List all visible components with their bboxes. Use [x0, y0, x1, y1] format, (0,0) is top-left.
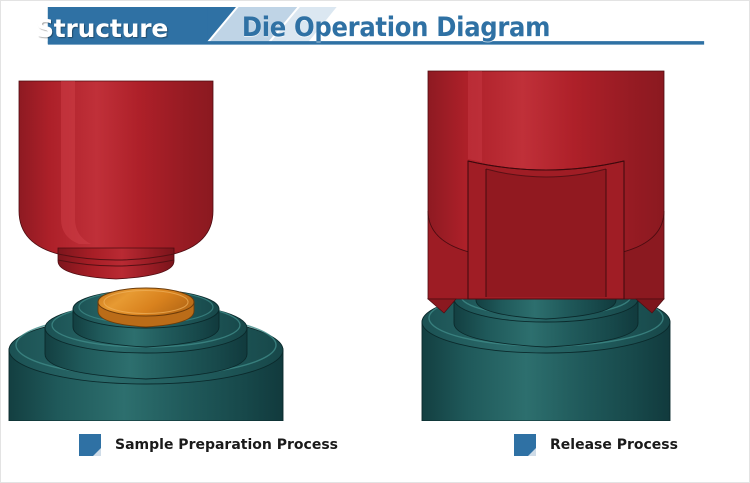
pellet-top	[98, 288, 194, 316]
diagram-panel-release	[376, 51, 750, 421]
punch-highlight	[468, 71, 482, 162]
page-title: Die Operation Diagram	[1, 5, 750, 49]
punch-bore-shade	[486, 169, 606, 297]
sample-preparation-graphic	[1, 51, 376, 421]
legend-item-release: Release Process	[514, 421, 678, 469]
legend-item-sample-preparation: Sample Preparation Process	[79, 421, 338, 469]
upper-punch-red	[19, 81, 213, 279]
legend-swatch-icon	[514, 434, 536, 456]
page-header: Structure Die Operation Diagram	[1, 1, 750, 51]
sample-pellet	[98, 288, 194, 327]
legend-swatch-icon	[79, 434, 101, 456]
legend: Sample Preparation Process Release Proce…	[1, 421, 750, 469]
upper-punch-red	[428, 71, 664, 313]
release-graphic	[376, 51, 750, 421]
legend-label: Sample Preparation Process	[115, 437, 338, 453]
diagram-panel-sample-preparation	[1, 51, 376, 421]
legend-label: Release Process	[550, 437, 678, 453]
diagram-area	[1, 51, 750, 421]
die-operation-diagram-page: Structure Die Operation Diagram	[0, 0, 750, 483]
punch-barrel	[19, 81, 213, 260]
